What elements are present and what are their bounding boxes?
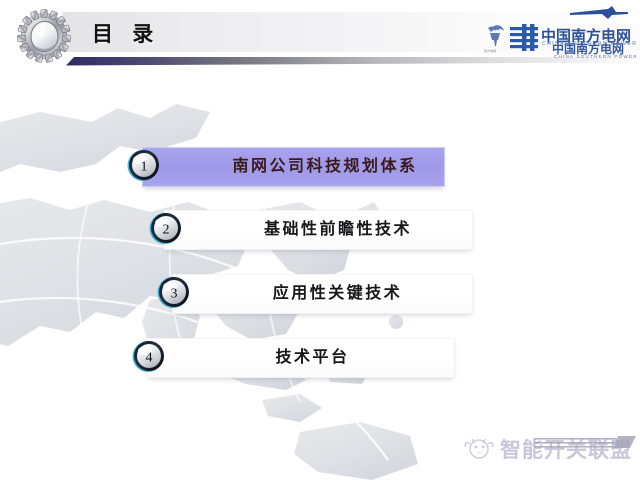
agenda-item-3[interactable]: 应用性关键技术 3 [0,274,640,314]
agenda-label-1: 南网公司科技规划体系 [205,147,445,187]
agenda-list: 南网公司科技规划体系 [0,0,640,480]
agenda-number-2[interactable]: 2 [149,211,183,245]
agenda-item-1[interactable]: 南网公司科技规划体系 [0,147,640,187]
svg-text:1: 1 [141,160,148,175]
agenda-item-4[interactable]: 技术平台 4 [0,338,640,378]
agenda-number-1[interactable]: 1 [127,148,161,182]
agenda-number-4[interactable]: 4 [132,339,166,373]
agenda-label-4: 技术平台 [260,338,365,378]
agenda-label-3: 应用性关键技术 [250,274,425,314]
svg-text:2: 2 [163,223,170,238]
svg-text:3: 3 [171,287,178,302]
svg-text:4: 4 [146,351,153,366]
agenda-number-3[interactable]: 3 [157,275,191,309]
agenda-label-2: 基础性前瞻性技术 [238,210,438,250]
presentation-slide: 目 录 [0,0,640,480]
agenda-item-2[interactable]: 基础性前瞻性技术 2 [0,210,640,250]
